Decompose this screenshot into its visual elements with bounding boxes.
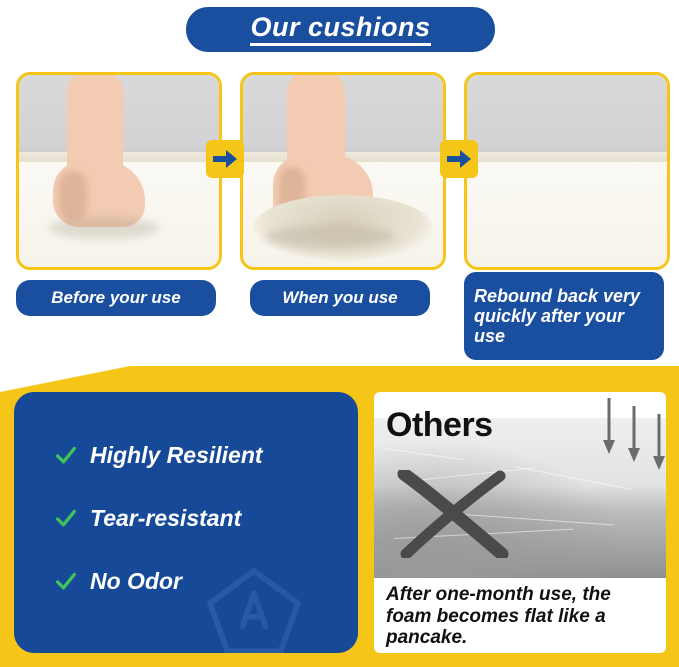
check-icon: [56, 572, 76, 592]
down-arrow-icon-3: [652, 414, 666, 470]
caption-text: Rebound back very quickly after your use: [474, 286, 654, 346]
feature-label: Highly Resilient: [90, 442, 263, 469]
feature-item-no-odor: No Odor: [56, 568, 182, 595]
arrow-right-icon-1: [206, 140, 244, 178]
feature-item-tear-resistant: Tear-resistant: [56, 505, 241, 532]
step-photo-when-you-use: [240, 72, 446, 270]
check-icon: [56, 509, 76, 529]
others-card: Others After one-month use, the foam bec…: [374, 392, 666, 653]
foam-scene-1: [19, 75, 219, 267]
page-title: Our cushions: [250, 13, 430, 45]
others-caption: After one-month use, the foam becomes fl…: [386, 584, 658, 649]
features-card: Highly Resilient Tear-resistant No Odor: [14, 392, 358, 653]
foot-shading: [59, 171, 87, 221]
caption-before-use: Before your use: [16, 280, 216, 316]
step-photo-rebound: [464, 72, 670, 270]
page-title-banner: Our cushions: [186, 7, 495, 52]
foot-shadow: [265, 225, 395, 249]
foam-scene-2: [243, 75, 443, 267]
caption-text: Before your use: [51, 288, 180, 307]
x-cross-icon: [394, 470, 514, 558]
foam-scene-3: [467, 75, 667, 267]
arrow-right-icon-2: [440, 140, 478, 178]
caption-when-you-use: When you use: [250, 280, 430, 316]
feature-item-highly-resilient: Highly Resilient: [56, 442, 263, 469]
fiber-texture: [384, 448, 463, 460]
check-icon: [56, 446, 76, 466]
caption-rebound: Rebound back very quickly after your use: [464, 272, 664, 360]
feature-label: No Odor: [90, 568, 182, 595]
feature-label: Tear-resistant: [90, 505, 241, 532]
fiber-texture: [514, 466, 632, 490]
caption-text: When you use: [282, 288, 397, 307]
foot-shadow: [49, 217, 159, 239]
down-arrow-icon-1: [602, 398, 616, 454]
foam-surface: [467, 152, 667, 162]
house-watermark-icon: [206, 567, 302, 653]
down-arrow-icon-2: [627, 406, 641, 462]
step-photo-before-use: [16, 72, 222, 270]
others-title: Others: [386, 406, 493, 445]
